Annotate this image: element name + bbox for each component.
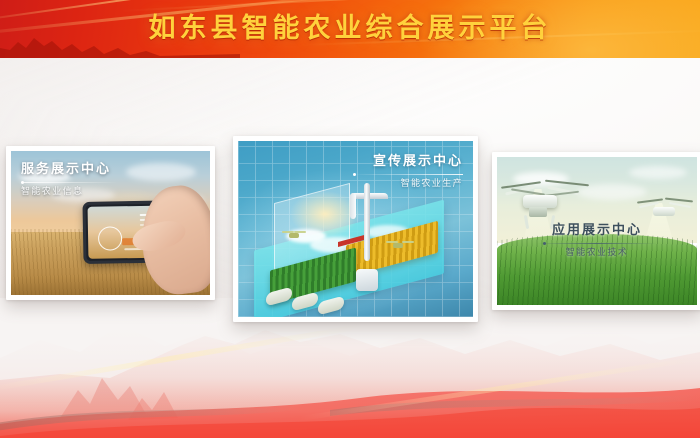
card-promotion-caption: 宣传展示中心 智能农业生产	[353, 153, 463, 191]
presentation-stage: 如东县智能农业综合展示平台	[0, 0, 700, 438]
caption-divider	[353, 174, 463, 175]
card-application-image: 应用展示中心 智能农业技术	[497, 157, 697, 305]
card-service-display-center[interactable]: 服务展示中心 智能农业信息	[6, 146, 215, 300]
irrigation-pole	[364, 183, 370, 261]
card-application-caption: 应用展示中心 智能农业技术	[497, 222, 697, 260]
card-application-subtitle: 智能农业技术	[497, 247, 697, 260]
drone-body	[653, 207, 675, 216]
drone-body	[289, 233, 299, 238]
drone-body	[393, 243, 403, 248]
water-tank-icon	[356, 269, 378, 291]
caption-dot-icon	[21, 181, 24, 184]
spray-tank-icon	[529, 207, 547, 217]
drone-icon	[282, 229, 306, 239]
drone-body	[523, 195, 557, 208]
card-promotion-display-center[interactable]: 宣传展示中心 智能农业生产	[233, 136, 478, 322]
card-application-display-center[interactable]: 应用展示中心 智能农业技术	[492, 152, 700, 310]
drone-rotor	[545, 179, 589, 186]
caption-dot-icon	[543, 242, 546, 245]
card-promotion-image: 宣传展示中心 智能农业生产	[238, 141, 473, 317]
card-service-title: 服务展示中心	[21, 161, 117, 178]
card-promotion-subtitle: 智能农业生产	[353, 178, 463, 191]
card-service-subtitle: 智能农业信息	[21, 186, 117, 199]
card-promotion-title: 宣传展示中心	[353, 153, 463, 170]
header-banner: 如东县智能农业综合展示平台	[0, 0, 700, 58]
drone-icon	[386, 239, 416, 251]
drone-rotor	[501, 181, 541, 189]
cloud-icon	[629, 166, 687, 179]
drone-rotor	[402, 241, 414, 243]
card-application-title: 应用展示中心	[497, 222, 697, 239]
card-service-image: 服务展示中心 智能农业信息	[11, 151, 210, 295]
caption-dot-icon	[353, 173, 356, 176]
cloud-icon	[126, 163, 196, 181]
page-title: 如东县智能农业综合展示平台	[0, 7, 700, 51]
caption-divider	[537, 243, 657, 244]
caption-divider	[21, 182, 117, 183]
hud-ring-icon	[98, 227, 122, 251]
card-service-caption: 服务展示中心 智能农业信息	[21, 161, 117, 199]
